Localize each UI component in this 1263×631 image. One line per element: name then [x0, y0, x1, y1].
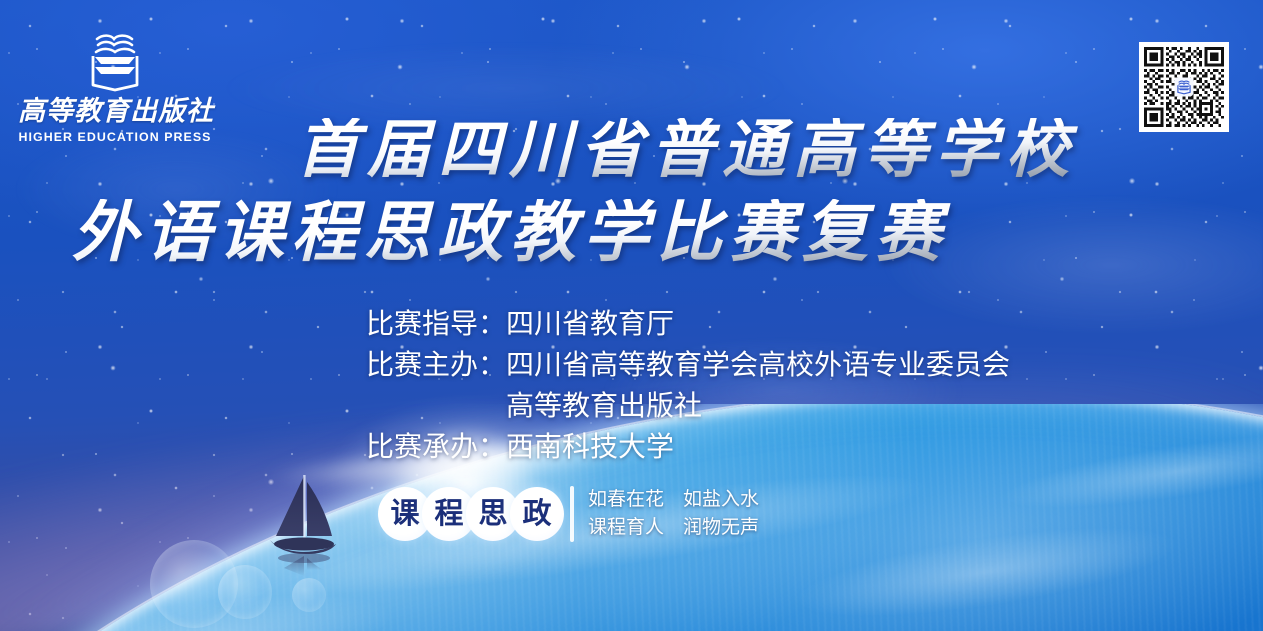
sailboat-silhouette	[258, 470, 370, 583]
slogan-divider	[570, 486, 574, 542]
badge-circle: 政	[510, 487, 564, 541]
badge-char: 程	[434, 500, 463, 529]
info-line-host: 比赛承办：西南科技大学	[366, 426, 1010, 467]
headline-line-2: 外语课程思政教学比赛复赛	[0, 199, 1263, 265]
event-info-block: 比赛指导：四川省教育厅 比赛主办：四川省高等教育学会高校外语专业委员会 高等教育…	[366, 303, 1010, 467]
badge-circle-group: 课 程 思 政	[378, 487, 554, 541]
slogan-line-1: 如春在花 如盐入水	[588, 486, 759, 514]
info-line-organizer-2: 高等教育出版社	[366, 385, 1010, 426]
slogan-block: 如春在花 如盐入水 课程育人 润物无声	[570, 486, 759, 542]
slogan-line-2: 课程育人 润物无声	[588, 514, 759, 542]
book-stack-emblem-icon	[1176, 79, 1193, 96]
info-line-organizer: 比赛主办：四川省高等教育学会高校外语专业委员会	[366, 344, 1010, 385]
badge-char: 政	[522, 500, 551, 529]
slogan-lines: 如春在花 如盐入水 课程育人 润物无声	[588, 486, 759, 542]
badge-char: 思	[478, 500, 507, 529]
qr-center-logo	[1175, 78, 1194, 97]
poster-canvas: 高等教育出版社 HIGHER EDUCATION PRESS	[0, 0, 1263, 631]
badge-char: 课	[390, 500, 419, 529]
headline: 首届四川省普通高等学校 外语课程思政教学比赛复赛	[0, 118, 1263, 265]
headline-line-1: 首届四川省普通高等学校	[0, 118, 1263, 181]
info-line-guidance: 比赛指导：四川省教育厅	[366, 303, 1010, 344]
curriculum-ideology-badge: 课 程 思 政	[378, 487, 554, 541]
book-stack-emblem-icon	[83, 30, 147, 92]
